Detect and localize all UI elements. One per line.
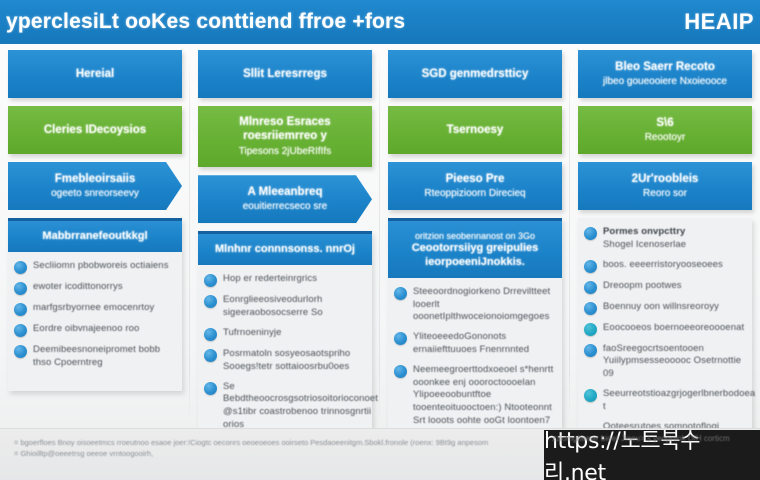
list-item-text: Tufrnoeninyje	[223, 327, 282, 340]
list-item: Eordre oibvnajeenoo roo	[14, 323, 176, 337]
bullet-dot-icon	[204, 295, 217, 308]
card-title: Ceootorrsiiyg greipulies ieorpoeeniJnokk…	[394, 242, 556, 270]
band-2-1[interactable]: Sllit Leresrregs	[198, 50, 372, 98]
list-item: marfgsrbyornee emocenrtoy	[14, 302, 176, 316]
list-item-text: marfgsrbyornee emocenrtoy	[33, 302, 154, 315]
band-subtitle: Tipesons 2jUbeRIfIfs	[239, 146, 331, 159]
bullet-dot-icon	[14, 303, 27, 316]
bullet-dot-icon	[584, 227, 597, 240]
list-item: Eonrglieeosiveodurlorh sigeeraobosocserr…	[204, 294, 366, 320]
band-4-2[interactable]: S\6 Reootoyr	[578, 106, 752, 154]
band-title: Bleo Saerr Recoto	[615, 60, 715, 74]
bullet-dot-icon	[584, 302, 597, 315]
list-item-text: Se Bebdtheoocrosgsotriosoitorioconoet @s…	[223, 381, 378, 432]
list-item-text: Boennuy oon willnsreoroyy	[603, 301, 719, 314]
bullet-dot-icon	[204, 328, 217, 341]
list-item: Hop er rederteinrgrics	[204, 273, 366, 287]
list-item: Seeurreotstioazgrjogerlbnerbodoea t	[584, 388, 746, 414]
band-title: Pieeso Pre	[446, 172, 505, 186]
bullet-dot-icon	[394, 287, 407, 300]
band-3-1[interactable]: SGD genmedrstticy	[388, 50, 562, 98]
app-header-bar: yperclesiLt ooKes conttiend ffroe +fors …	[0, 0, 760, 44]
bullet-dot-icon	[14, 261, 27, 274]
band-title: Fmebleoirsaiis	[55, 172, 136, 186]
bullet-dot-icon	[204, 349, 217, 362]
bullet-dot-icon	[584, 323, 597, 336]
list-item-text: Secliiomn pbobworeis octiaiens	[33, 260, 169, 273]
band-title: Mlnreso Esraces roesriiemrreo y	[208, 115, 362, 144]
bullet-dot-icon	[584, 281, 597, 294]
band-title: Tsernoesy	[447, 123, 504, 137]
bullet-dot-icon	[14, 282, 27, 295]
band-subtitle: Reootoyr	[645, 132, 686, 145]
card-body: Hop er rederteinrgrics Eonrglieeosiveodu…	[198, 265, 372, 453]
band-subtitle: jlbeo goueooiere Nxoieooce	[603, 76, 727, 89]
bullet-dot-icon	[584, 260, 597, 273]
list-item-text: YliteoeeedoGononots ernaiiefttuuoes Fnen…	[413, 331, 556, 357]
list-item-text: Pormes onvpcttryShogel Icenoserlae	[603, 226, 686, 252]
band-1-3[interactable]: Fmebleoirsaiis ogeeto snreorseevy	[8, 162, 182, 210]
bullet-dot-icon	[14, 345, 27, 358]
bullet-dot-icon	[204, 274, 217, 287]
column-4: Bleo Saerr Recoto jlbeo goueooiere Nxoie…	[570, 50, 760, 428]
list-item: Tufrnoeninyje	[204, 327, 366, 341]
column-1: Hereial Cleries IDecoysios Fmebleoirsaii…	[0, 50, 190, 428]
bullet-dot-icon	[584, 389, 597, 402]
list-item: ewoter icodittonorrys	[14, 281, 176, 295]
list-item-text: Hop er rederteinrgrics	[223, 273, 317, 286]
band-1-2[interactable]: Cleries IDecoysios	[8, 106, 182, 154]
list-item: Deemibeesnoneipromet bobb thso Cpoerntre…	[14, 344, 176, 370]
card-subtitle: oritzion seobennanost on 3Go	[394, 231, 556, 242]
list-item: boos. eeeerristoryooseoees	[584, 259, 746, 273]
card-header[interactable]: Mlnhnr connnsonss. nnrOj	[198, 231, 372, 265]
band-title: SGD genmedrstticy	[422, 67, 529, 81]
list-item: Steeoordnogiorkeno Drreviltteet looerlt …	[394, 286, 556, 324]
card-1: Mabbrranefeoutkkgl Secliiomn pbobworeis …	[8, 218, 182, 391]
band-1-1[interactable]: Hereial	[8, 50, 182, 98]
card-2: Mlnhnr connnsonss. nnrOj Hop er redertei…	[198, 231, 372, 453]
band-title: Hereial	[76, 67, 114, 81]
bullet-dot-icon	[204, 382, 217, 395]
list-item: Eoocooeos boernoeeoreoooenat	[584, 322, 746, 336]
list-item-text: Steeoordnogiorkeno Drreviltteet looerlt …	[413, 286, 556, 324]
column-3: SGD genmedrstticy Tsernoesy Pieeso Pre R…	[380, 50, 570, 428]
watermark-ghost-text: zziomgiteewr bioer Jioeu>.s yeoprsok DIH…	[552, 434, 752, 443]
band-4-1[interactable]: Bleo Saerr Recoto jlbeo goueooiere Nxoie…	[578, 50, 752, 98]
list-item-text: Eordre oibvnajeenoo roo	[33, 323, 139, 336]
watermark-url: https://노트북수리.net	[544, 423, 760, 480]
band-subtitle: Reoro sor	[643, 188, 687, 201]
slide-body: Hereial Cleries IDecoysios Fmebleoirsaii…	[0, 44, 760, 480]
bullet-dot-icon	[584, 344, 597, 357]
band-2-2[interactable]: Mlnreso Esraces roesriiemrreo y Tipesons…	[198, 106, 372, 167]
bullet-dot-icon	[14, 324, 27, 337]
list-item-text: ewoter icodittonorrys	[33, 281, 123, 294]
band-3-2[interactable]: Tsernoesy	[388, 106, 562, 154]
list-item-text: Dreoopm pootwes	[603, 280, 682, 293]
card-header[interactable]: oritzion seobennanost on 3Go Ceootorrsii…	[388, 218, 562, 278]
list-item: Pormes onvpcttryShogel Icenoserlae	[584, 226, 746, 252]
card-body: Secliiomn pbobworeis octiaiens ewoter ic…	[8, 252, 182, 391]
band-title: A Mleeanbreq	[248, 185, 323, 199]
band-subtitle: eouitierrecseco sre	[243, 201, 327, 214]
bullet-dot-icon	[394, 365, 407, 378]
band-2-3[interactable]: A Mleeanbreq eouitierrecseco sre	[198, 175, 372, 223]
list-item-text: Eoocooeos boernoeeoreoooenat	[603, 322, 744, 335]
list-item: Secliiomn pbobworeis octiaiens	[14, 260, 176, 274]
card-title: Mabbrranefeoutkkgl	[14, 230, 176, 244]
list-item: Boennuy oon willnsreoroyy	[584, 301, 746, 315]
brand-logo: HEAIP	[684, 9, 754, 35]
band-title: S\6	[656, 116, 673, 130]
card-header[interactable]: Mabbrranefeoutkkgl	[8, 218, 182, 252]
list-item-text: faoSreegocrtsoentooen Yuiilypmsesseooooc…	[603, 343, 746, 381]
band-3-3[interactable]: Pieeso Pre Rteoppizioorn Direcieq	[388, 162, 562, 210]
list-item-text: Seeurreotstioazgrjogerlbnerbodoea t	[603, 388, 755, 414]
list-item: Posrmatoln sosyeosaotspriho Sooegs!tetr …	[204, 348, 366, 374]
card-title: Mlnhnr connnsonss. nnrOj	[204, 243, 366, 257]
list-item: faoSreegocrtsoentooen Yuiilypmsesseooooc…	[584, 343, 746, 381]
band-title: Cleries IDecoysios	[44, 123, 146, 137]
list-item: Se Bebdtheoocrosgsotriosoitorioconoet @s…	[204, 381, 366, 432]
watermark-overlay: zziomgiteewr bioer Jioeu>.s yeoprsok DIH…	[544, 430, 760, 480]
band-title: Sllit Leresrregs	[243, 67, 327, 81]
columns-container: Hereial Cleries IDecoysios Fmebleoirsaii…	[0, 50, 760, 428]
list-item-text: Eonrglieeosiveodurlorh sigeeraobosocserr…	[223, 294, 366, 320]
bullet-dot-icon	[394, 332, 407, 345]
column-2: Sllit Leresrregs Mlnreso Esraces roesrii…	[190, 50, 380, 428]
list-item: Dreoopm pootwes	[584, 280, 746, 294]
list-item-text: Posrmatoln sosyeosaotspriho Sooegs!tetr …	[223, 348, 366, 374]
band-subtitle: ogeeto snreorseevy	[51, 188, 139, 201]
band-subtitle: Rteoppizioorn Direcieq	[424, 188, 525, 201]
page-title: yperclesiLt ooKes conttiend ffroe +fors	[6, 10, 405, 34]
list-item: YliteoeeedoGononots ernaiiefttuuoes Fnen…	[394, 331, 556, 357]
card-3: oritzion seobennanost on 3Go Ceootorrsii…	[388, 218, 562, 462]
list-item-text: Deemibeesnoneipromet bobb thso Cpoerntre…	[33, 344, 176, 370]
band-title: 2Ur'roobleis	[632, 172, 699, 186]
band-4-3[interactable]: 2Ur'roobleis Reoro sor	[578, 162, 752, 210]
list-item-text: boos. eeeerristoryooseoees	[603, 259, 723, 272]
